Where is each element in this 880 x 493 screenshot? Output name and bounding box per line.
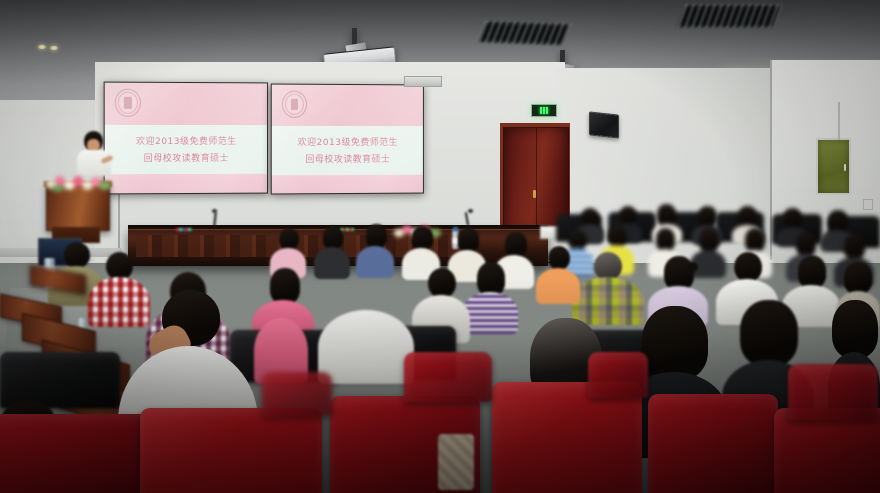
attendee-head (738, 206, 757, 227)
projection-screen-left: 欢迎2013级免费师范生 回母校攻读教育硕士 (104, 82, 268, 195)
attendee-head (657, 204, 676, 226)
attendee (356, 224, 394, 276)
flower-foliage (99, 181, 111, 190)
patterned-bag (438, 434, 474, 490)
attendee-head (740, 300, 798, 366)
university-seal-icon (115, 89, 141, 117)
attendee-head (832, 300, 878, 358)
microphone-head-2 (468, 209, 473, 213)
slide-body (105, 125, 267, 175)
slide-footer-band (105, 174, 267, 193)
attendee-head (366, 224, 387, 248)
slide-line-2-right: 回母校攻读教育硕士 (272, 152, 423, 165)
microphone-head (212, 209, 217, 213)
wall-conduit (838, 102, 840, 140)
seal-inner-mark-2 (291, 98, 299, 110)
seat-mid-red[interactable] (404, 352, 492, 402)
attendee-head (734, 252, 762, 282)
recessed-louver-light-off-2 (676, 4, 783, 28)
desk-indicator-lights (176, 228, 192, 231)
attendee-torso (356, 246, 394, 278)
slide-right: 欢迎2013级免费师范生 回母校攻读教育硕士 (272, 85, 423, 194)
attendee-head (699, 228, 719, 252)
exit-sign-glyph-2 (543, 107, 545, 114)
attendee-head (656, 228, 675, 251)
podium-flower-arrangement (44, 173, 114, 191)
hair-tie (688, 262, 698, 272)
slide-footer-band-2 (272, 174, 423, 193)
attendee-head (428, 268, 456, 298)
attendee-head (844, 262, 872, 294)
attendee-torso (536, 268, 580, 304)
seat-foreground-red[interactable] (0, 414, 150, 493)
seat-foreground-red[interactable] (140, 408, 322, 493)
attendee-head (594, 252, 622, 280)
green-utility-panel (816, 138, 851, 195)
attendee-head (548, 246, 570, 270)
university-seal-icon-2 (282, 91, 307, 118)
attendee-torso (462, 292, 518, 334)
exit-sign-glyph (540, 107, 542, 114)
attendee-head (664, 256, 694, 290)
screen-roller-housing (404, 76, 442, 87)
attendee-head (323, 226, 343, 249)
seat-mid-red[interactable] (262, 372, 332, 416)
slide-line-2: 回母校攻读教育硕士 (105, 151, 267, 164)
attendee-head (844, 234, 865, 259)
attendee-head (64, 242, 90, 268)
door-handle-icon[interactable] (533, 190, 536, 198)
attendee-foreground-white-2 (318, 310, 414, 390)
attendee-head (477, 262, 505, 296)
lecture-hall-photo: 欢迎2013级免费师范生 回母校攻读教育硕士 欢迎2013级免费师范生 回母校攻… (0, 0, 880, 493)
attendee-head (642, 306, 708, 380)
exit-sign (531, 104, 557, 117)
seat-foreground-red[interactable] (492, 382, 642, 493)
panel-latch-icon (844, 164, 846, 171)
seat-mid-red[interactable] (788, 364, 878, 420)
smoke-detector-icon-3 (50, 46, 58, 50)
attendee-head (270, 268, 300, 304)
seat-foreground-red[interactable] (774, 408, 880, 493)
attendee-head (412, 226, 433, 250)
slide-line-1: 欢迎2013级免费师范生 (105, 134, 267, 147)
attendee-head (745, 228, 765, 252)
attendee-orange (536, 246, 580, 304)
attendee-head (783, 208, 802, 229)
attendee-torso (318, 310, 414, 384)
attendee (314, 226, 350, 276)
seat-foreground-red[interactable] (648, 394, 778, 493)
slide-left: 欢迎2013级免费师范生 回母校攻读教育硕士 (105, 83, 267, 194)
exit-sign-glyph-3 (546, 107, 548, 114)
attendee-head (828, 210, 848, 232)
attendee-head (279, 228, 299, 250)
seat-mid-red[interactable] (588, 352, 648, 398)
projection-screen-right: 欢迎2013级免费师范生 回母校攻读教育硕士 (271, 84, 424, 195)
attendee-head (505, 232, 527, 257)
attendee-head (796, 232, 816, 256)
wall-outlet-plate (863, 199, 873, 210)
attendee-head (458, 228, 479, 252)
wall-speaker (589, 111, 619, 138)
slide-body-2 (272, 126, 423, 175)
attendee-torso (314, 247, 350, 279)
recessed-louver-light-off (476, 20, 572, 45)
door-center-seam (536, 128, 537, 236)
smoke-detector-icon-2 (38, 45, 46, 49)
flower-foliage (52, 185, 64, 192)
attendee-head (608, 226, 627, 247)
slide-line-1-right: 欢迎2013级免费师范生 (272, 135, 423, 148)
attendee-head (798, 256, 826, 288)
attendee-head (106, 252, 133, 280)
seal-inner-mark (124, 97, 132, 109)
attendee-head (698, 206, 717, 227)
attendee-striped (462, 262, 518, 330)
